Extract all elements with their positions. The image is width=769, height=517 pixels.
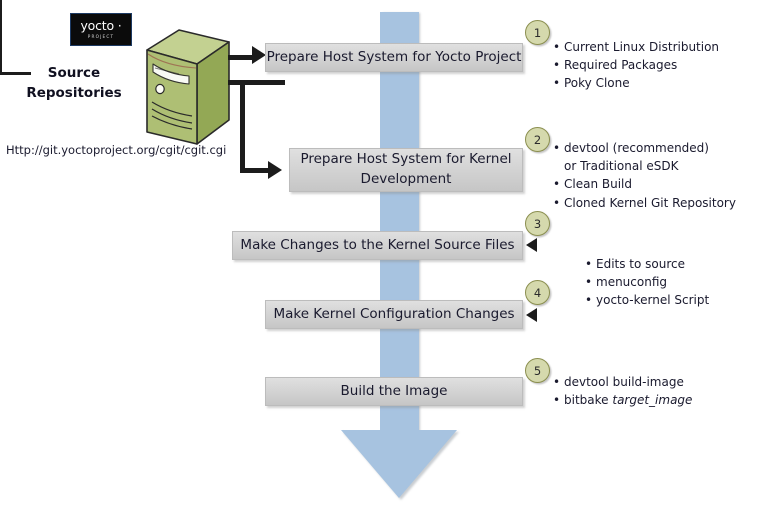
list-item: devtool (recommended) or Traditional eSD… [553,139,716,175]
step-number-badge-4: 4 [525,280,550,305]
step5-bullet-list: devtool build-image bitbake target_image [553,373,692,409]
step3-step4-bullet-list: Edits to source menuconfig yocto-kernel … [585,255,709,310]
bracket-connector-vertical [0,0,2,72]
list-item: Clean Build [553,175,736,193]
source-label-line1: Source [10,64,138,84]
server-tower-icon [133,28,233,150]
bracket-arrowhead-step3 [526,238,537,252]
yocto-project-logo: yocto · PROJECT [70,13,132,46]
list-item: Poky Clone [553,74,719,92]
list-item: yocto-kernel Script [585,291,709,309]
list-item: menuconfig [585,273,709,291]
step-box-prepare-host-kernel[interactable]: Prepare Host System for Kernel Developme… [289,148,523,192]
step-box-make-kernel-source-changes[interactable]: Make Changes to the Kernel Source Files [232,231,523,260]
step-box-prepare-host-yocto[interactable]: Prepare Host System for Yocto Project [265,43,523,72]
source-repositories-label: Source Repositories [10,64,138,103]
main-flow-arrow-head [341,430,457,498]
step-box-make-kernel-config-changes[interactable]: Make Kernel Configuration Changes [265,300,523,329]
bitbake-prefix: bitbake [564,393,612,407]
diagram-canvas: yocto · PROJECT Source Repositories Http… [0,0,769,517]
bitbake-target-italic: target_image [612,393,692,407]
yocto-logo-subtext: PROJECT [88,35,115,39]
step-box-build-the-image[interactable]: Build the Image [265,377,523,406]
step-number-badge-3: 3 [525,211,550,236]
connector-server-to-step2-horizontal-top [228,80,285,85]
list-item: Current Linux Distribution [553,38,719,56]
connector-server-to-step1 [228,55,255,60]
yocto-logo-wordmark: yocto · [80,20,121,33]
step2-bullet-list: devtool (recommended) or Traditional eSD… [553,139,736,212]
source-label-line2: Repositories [10,84,138,104]
connector-server-to-step2-arrowhead [268,161,282,179]
step-number-badge-1: 1 [525,20,550,45]
step-number-badge-5: 5 [525,358,550,383]
step1-bullet-list: Current Linux Distribution Required Pack… [553,38,719,93]
connector-server-to-step1-arrowhead [252,46,266,64]
bracket-arrowhead-step4 [526,308,537,322]
connector-server-to-step2-vertical [240,80,245,173]
step-number-badge-2: 2 [525,127,550,152]
main-flow-arrow-shaft [380,12,419,433]
list-item: Required Packages [553,56,719,74]
list-item: devtool build-image [553,373,692,391]
list-item-bitbake: bitbake target_image [553,391,692,409]
list-item: Edits to source [585,255,709,273]
list-item: Cloned Kernel Git Repository [553,194,736,212]
